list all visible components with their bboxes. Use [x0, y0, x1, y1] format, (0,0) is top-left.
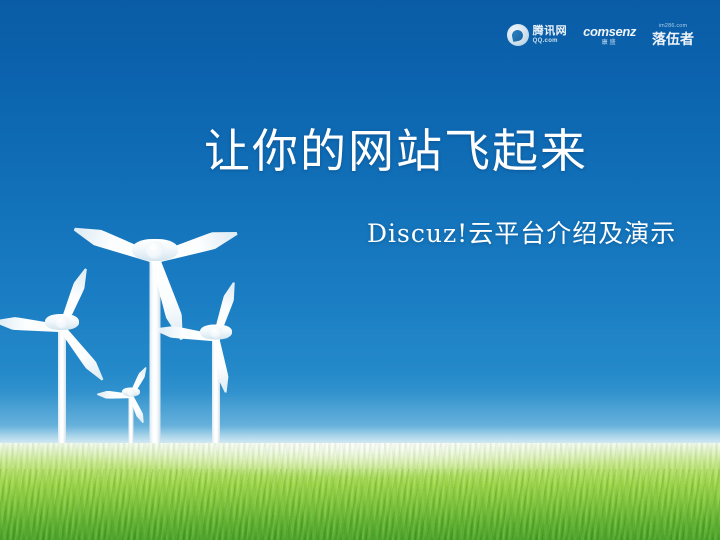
grass-field	[0, 443, 720, 540]
turbine-mast	[58, 322, 66, 450]
comsenz-logo-en: comsenz	[583, 25, 636, 38]
comsenz-logo[interactable]: comsenz 康盛	[583, 25, 636, 46]
turbine-hub	[210, 326, 222, 338]
qq-logo-text: 腾讯网 QQ.com	[533, 26, 568, 44]
qq-logo-en: QQ.com	[533, 38, 568, 44]
im286-logo-en: im286.com	[659, 24, 688, 30]
im286-logo[interactable]: im286.com 落伍者	[652, 24, 694, 46]
presentation-slide: 腾讯网 QQ.com comsenz 康盛 im286.com 落伍者 让你的网…	[0, 0, 720, 540]
qq-inner-shape	[511, 28, 524, 41]
turbine-hub	[127, 388, 135, 396]
partner-logos: 腾讯网 QQ.com comsenz 康盛 im286.com 落伍者	[507, 24, 694, 46]
comsenz-logo-cn: 康盛	[602, 40, 618, 46]
im286-logo-text: im286.com 落伍者	[652, 24, 694, 46]
im286-logo-cn: 落伍者	[652, 32, 694, 46]
qq-logo-cn: 腾讯网	[533, 26, 568, 37]
qq-logo[interactable]: 腾讯网 QQ.com	[507, 24, 568, 46]
comsenz-logo-text: comsenz 康盛	[583, 25, 636, 46]
grass-texture-near	[0, 469, 720, 540]
turbine-hub	[146, 241, 164, 259]
slide-subtitle: Discuz!云平台介绍及演示	[367, 221, 676, 246]
qq-circle-icon	[507, 24, 529, 46]
turbine-hub	[56, 316, 69, 329]
slide-title: 让你的网站飞起来	[204, 128, 588, 174]
